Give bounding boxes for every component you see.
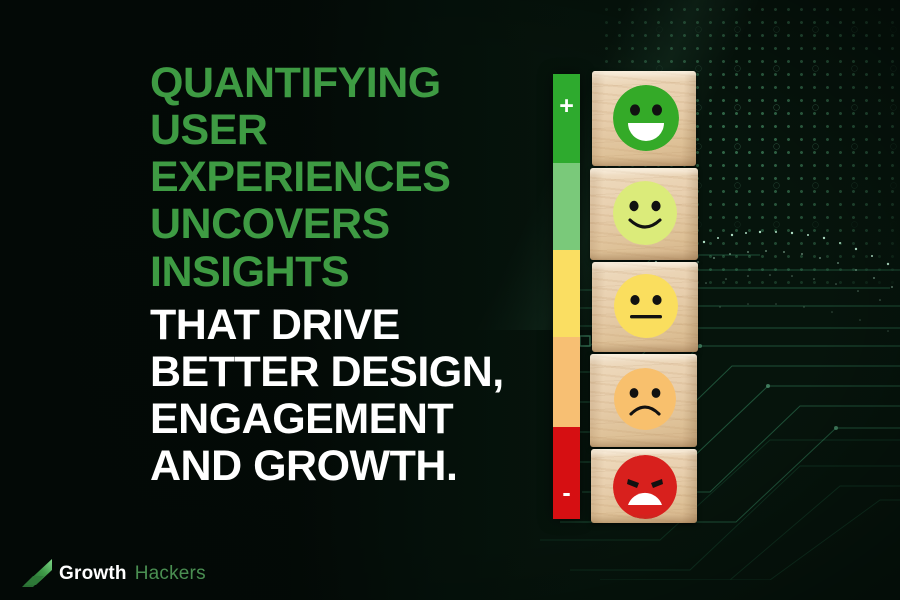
sentiment-scale-bar: + - (553, 74, 580, 519)
headline-green-line-1: QUANTIFYING (150, 62, 540, 104)
block-bottom-shade (590, 438, 697, 447)
headline-white-line-1: THAT DRIVE (150, 304, 540, 346)
headline-white-line-3: ENGAGEMENT (150, 398, 540, 440)
headline-green-line-5: INSIGHTS (150, 251, 540, 293)
face-sad-icon (614, 368, 676, 430)
headline-white-line-2: BETTER DESIGN, (150, 351, 540, 393)
block-bottom-shade (592, 157, 696, 166)
wood-block-happy (592, 71, 696, 166)
headline-green-line-2: USER (150, 109, 540, 151)
block-bottom-shade (590, 251, 698, 260)
face-angry-icon (613, 455, 677, 519)
poster-canvas: QUANTIFYING USER EXPERIENCES UNCOVERS IN… (0, 0, 900, 600)
growth-arrow-icon (22, 558, 56, 588)
face-slightly-happy-icon (613, 181, 677, 245)
wood-block-neutral (592, 262, 698, 352)
emoji-block-stack (590, 71, 702, 523)
headline-block: QUANTIFYING USER EXPERIENCES UNCOVERS IN… (150, 62, 540, 492)
logo-word-hackers: Hackers (135, 564, 206, 583)
minus-sign-icon: - (553, 481, 580, 506)
brand-logo[interactable]: Growth Hackers (22, 558, 206, 588)
scale-segment-very-negative: - (553, 427, 580, 519)
scale-segment-negative (553, 337, 580, 427)
block-top-highlight (590, 168, 698, 175)
scale-segment-neutral (553, 250, 580, 337)
wood-block-angry (591, 449, 697, 523)
wood-block-sad (590, 354, 697, 447)
block-top-highlight (592, 71, 696, 78)
plus-sign-icon: + (553, 94, 580, 119)
wood-block-slightly-happy (590, 168, 698, 260)
headline-green-line-3: EXPERIENCES (150, 156, 540, 198)
block-top-highlight (592, 262, 698, 269)
block-bottom-shade (591, 514, 697, 523)
logo-word-growth: Growth (59, 564, 127, 583)
headline-white-line-4: AND GROWTH. (150, 445, 540, 487)
scale-segment-positive (553, 163, 580, 250)
headline-green-line-4: UNCOVERS (150, 203, 540, 245)
block-bottom-shade (592, 343, 698, 352)
scale-segment-very-positive: + (553, 74, 580, 163)
block-top-highlight (590, 354, 697, 361)
face-neutral-icon (614, 274, 678, 338)
face-happy-icon (613, 85, 679, 151)
